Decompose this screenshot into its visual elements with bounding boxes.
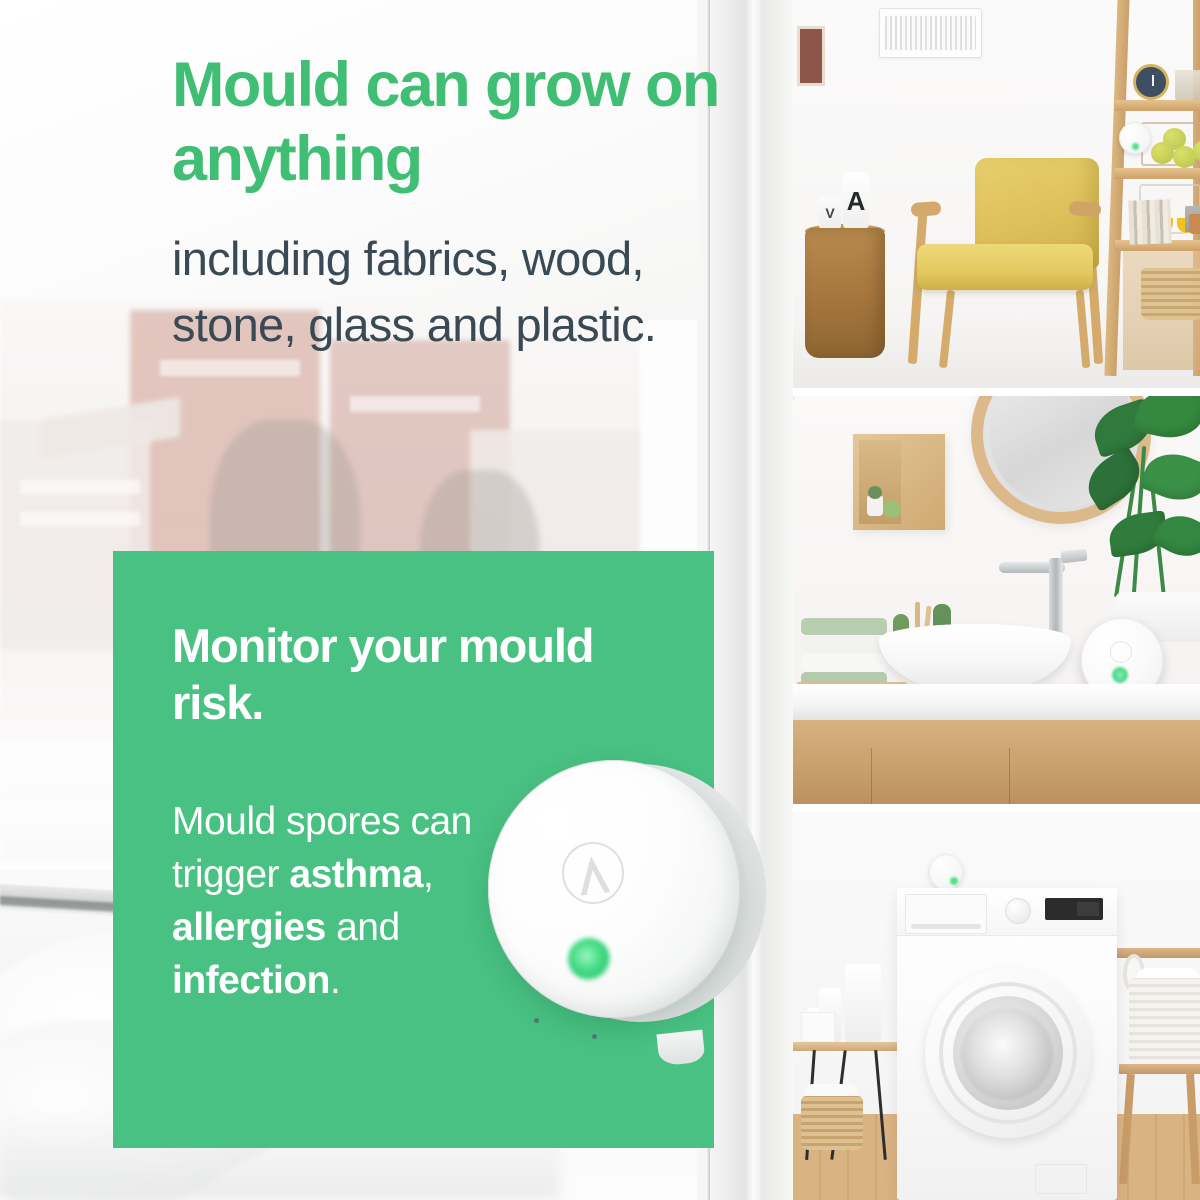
page-subcopy: including fabrics, wood, stone, glass an… — [172, 226, 692, 358]
bath-vanity-seam-1 — [871, 748, 872, 804]
sensor-pinhole-2 — [592, 1034, 597, 1039]
page-headline: Mould can grow on anything — [172, 48, 752, 196]
bath-cube-plant — [867, 496, 883, 516]
sensor-pinhole-1 — [534, 1018, 539, 1023]
washer-display — [1045, 898, 1103, 920]
lr-shelf-2 — [1115, 168, 1200, 179]
photo-column: V A — [793, 0, 1200, 1200]
lr-sensor-device — [1119, 122, 1151, 154]
lr-armrest-left — [911, 201, 942, 217]
laundry-white-box — [801, 1012, 835, 1042]
lr-letter-vase-a: A — [843, 172, 869, 228]
panel-body-suffix: . — [330, 959, 340, 1002]
lr-armchair-seat — [917, 244, 1093, 290]
bath-countertop — [793, 684, 1200, 720]
bath-towel-1 — [801, 618, 887, 635]
lr-terracotta-pot — [1189, 214, 1200, 234]
laundry-wicker-basket — [801, 1096, 863, 1150]
bath-towel-3 — [801, 654, 887, 671]
lr-jar-1 — [1175, 70, 1197, 100]
window-row-2 — [20, 512, 140, 526]
lr-wall-art — [797, 26, 825, 86]
bath-folded-towels — [801, 618, 887, 686]
washer-program-knob — [1005, 898, 1031, 924]
hero-sensor-device — [470, 742, 770, 1072]
lr-wicker-basket — [1141, 268, 1200, 320]
laundry-sensor-led — [950, 877, 958, 885]
bath-wood-vanity — [793, 720, 1200, 804]
window-row-4 — [350, 396, 480, 412]
lr-vent-slats — [885, 16, 976, 50]
device-stand — [656, 1030, 705, 1067]
laundry-side-table — [793, 1042, 903, 1051]
lr-sensor-led — [1132, 143, 1139, 150]
window-row-1 — [20, 480, 140, 494]
bath-cube-ball — [883, 500, 901, 518]
lr-armrest-right — [1069, 201, 1102, 217]
poster-canvas: Mould can grow on anything including fab… — [0, 0, 1200, 1200]
bath-vanity-seam-2 — [1009, 748, 1010, 804]
panel-title: Monitor your mould risk. — [172, 617, 602, 731]
panel-body-bold-allergies: allergies — [172, 906, 326, 949]
laundry-linen-basket — [1129, 978, 1200, 1064]
laundry-sensor-device — [929, 854, 963, 890]
panel-body-bold-asthma: asthma — [289, 853, 423, 896]
washer-filter-hatch — [1035, 1164, 1087, 1194]
photo-laundry-room — [793, 812, 1200, 1200]
washer-drawer-handle — [911, 924, 981, 929]
lr-wall-clock — [1133, 64, 1169, 100]
photo-bathroom — [793, 396, 1200, 804]
washer-laundry-load — [961, 1008, 1053, 1100]
lr-books — [1128, 199, 1172, 244]
laundry-wood-bench — [1119, 1064, 1200, 1074]
lr-air-vent — [879, 8, 982, 58]
lr-shelf-1 — [1115, 100, 1200, 111]
left-column: Mould can grow on anything including fab… — [0, 0, 793, 1200]
photo-living-room: V A — [793, 0, 1200, 388]
bath-towel-2 — [801, 636, 887, 653]
window-row-3 — [160, 360, 300, 376]
panel-body-sep-1: , — [423, 853, 433, 896]
lr-stump-table — [805, 228, 885, 358]
laundry-detergent-1 — [845, 964, 881, 1042]
bath-faucet-body — [1049, 558, 1063, 636]
bath-sensor-logo-icon — [1110, 641, 1132, 663]
lr-letter-vase-v: V — [819, 196, 841, 228]
bath-sensor-led — [1112, 667, 1128, 683]
panel-body-bold-infection: infection — [172, 959, 330, 1002]
lr-apple-1 — [1151, 142, 1174, 164]
panel-body-sep-2: and — [326, 906, 400, 949]
